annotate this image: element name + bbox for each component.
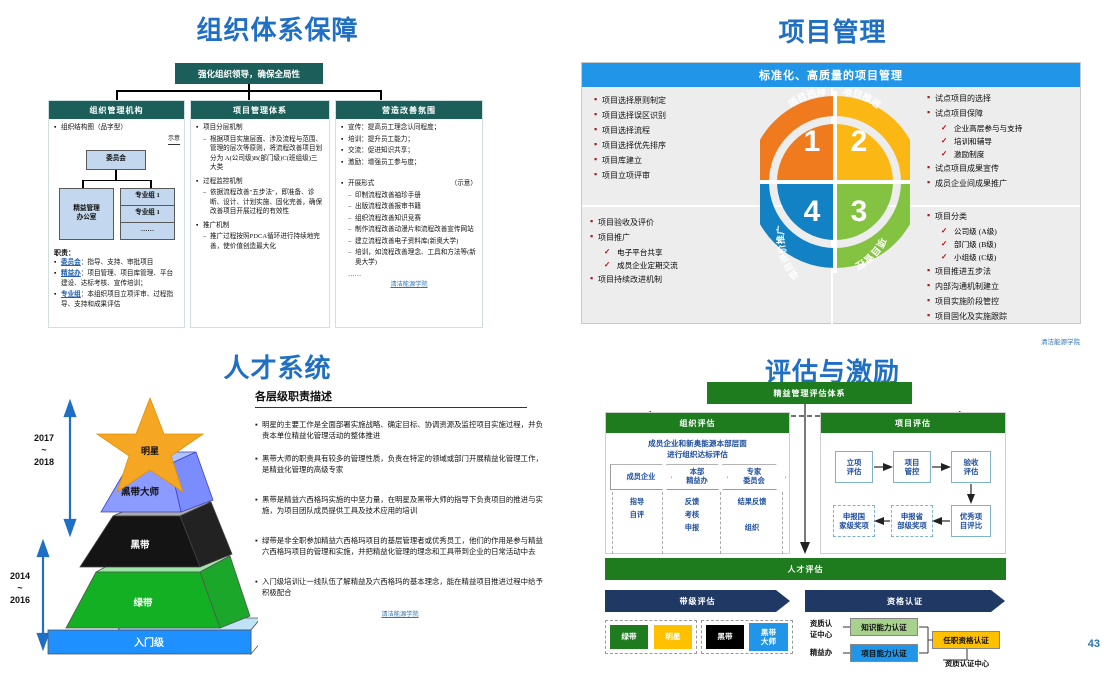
cell-hq: 反馈 考核 申报 bbox=[664, 496, 720, 535]
bullet-dot: ▪ bbox=[341, 123, 348, 133]
pm-lt-1: 项目选择误区识别 bbox=[602, 110, 666, 121]
pm-lt-4: 项目库建立 bbox=[602, 155, 642, 166]
bullet-dot: ▪ bbox=[255, 535, 262, 558]
svg-text:黑带: 黑带 bbox=[130, 539, 150, 551]
pm-rb-1: 项目推进五步法 bbox=[935, 266, 991, 277]
pm-lb-0: 项目验收及评价 bbox=[598, 217, 654, 228]
page-title-organization: 组织体系保障 bbox=[0, 10, 555, 47]
year-lower-from: 2014 bbox=[0, 570, 48, 582]
evaluation-section: 评估与激励 精益管理评估体系 组织评估 成员企业和新奥能源本部层面 进行组织达标… bbox=[555, 340, 1110, 680]
atm-form-5: 培训，如流程改善理念、工具和方法等(新奥大学) bbox=[355, 248, 477, 267]
bullet-dot: ▪ bbox=[594, 125, 602, 134]
resp-item-2: 黑带是精益六西格玛实施的中坚力量，在明星及黑带大师的指导下负责项目的推进与实施，… bbox=[262, 494, 545, 517]
belt-star: 明星 bbox=[654, 625, 692, 649]
dash-mark: – bbox=[348, 214, 355, 224]
bullet-dot: ▪ bbox=[927, 211, 935, 220]
org-evaluation-box: 组织评估 成员企业和新奥能源本部层面 进行组织达标评估 成员企业 本部 精益办 … bbox=[605, 412, 790, 554]
pm-rb-2: 内部沟通机制建立 bbox=[935, 281, 999, 292]
atm-form-2: 组织流程改善知识竞赛 bbox=[355, 214, 477, 224]
cell-member: 指导 自评 bbox=[612, 496, 662, 522]
bullet-dot: ▪ bbox=[594, 170, 602, 179]
year-upper-from: 2017 bbox=[16, 432, 72, 444]
pm-promo-title: 推广机制 bbox=[203, 221, 324, 231]
check-icon: ✓ bbox=[941, 239, 954, 250]
connector-drop-left bbox=[116, 90, 118, 100]
check-icon: ✓ bbox=[604, 247, 617, 258]
org-column-a-header: 组织管理机构 bbox=[49, 101, 184, 119]
atm-item-3: 激励：增强员工参与度； bbox=[348, 158, 477, 168]
project-evaluation-box: 项目评估 立项 评估 项目 管控 验收 评估 申报国 家级奖项 申报省 部级奖项… bbox=[820, 412, 1006, 554]
org-mini-chart: 委员会 精益管理 办公室 专业组 1 专业组 1 …… bbox=[54, 135, 179, 247]
dash-mark: – bbox=[348, 191, 355, 201]
pm-monitor-desc: 依据流程改善"五步法"，即准备、诊断、设计、计划实施、固化完善，确保改善项目开展… bbox=[210, 188, 324, 217]
check-icon: ✓ bbox=[941, 226, 954, 237]
svg-text:入门级: 入门级 bbox=[134, 636, 165, 649]
dash-mark: – bbox=[203, 232, 210, 251]
bullet-dot: ▪ bbox=[341, 146, 348, 156]
check-icon: ✓ bbox=[941, 123, 954, 134]
year-upper-sep: ~ bbox=[16, 444, 72, 456]
atm-form-3: 制作流程改善动漫片和流程改善宣传网站 bbox=[355, 225, 477, 235]
bullet-dot: ▪ bbox=[255, 494, 262, 517]
pm-list-left-bottom: ▪项目验收及评价 ▪项目推广 ✓电子平台共享 ✓成员企业定期交流 ▪项目持续改进… bbox=[590, 217, 770, 289]
year-lower-sep: ~ bbox=[0, 582, 48, 594]
cell-divider-1 bbox=[662, 492, 663, 554]
svg-text:黑带大师: 黑带大师 bbox=[121, 486, 160, 498]
bullet-dot: ▪ bbox=[196, 123, 203, 133]
duty-label-group: 专业组 bbox=[61, 291, 81, 298]
check-icon: ✓ bbox=[941, 136, 954, 147]
bullet-dot: ▪ bbox=[255, 576, 262, 599]
atm-ellipsis: …… bbox=[348, 270, 477, 280]
atm-form-0: 印制流程改善袖珍手册 bbox=[355, 191, 477, 201]
atm-form-1: 出版流程改善报审书籍 bbox=[355, 202, 477, 212]
pm-layer-desc: 根据项目实施层面、涉及流程与范围、管理的层次等原则，将流程改善项目划分为 A(公… bbox=[210, 135, 324, 173]
cert-connectors bbox=[795, 616, 1010, 671]
bullet-dot: ▪ bbox=[927, 266, 935, 275]
quadrant-number-3: 3 bbox=[851, 195, 868, 228]
cell-divider-3 bbox=[782, 492, 783, 554]
pm-rb-3: 项目实施阶段管控 bbox=[935, 296, 999, 307]
talent-credit: 清洁能源学院 bbox=[255, 609, 545, 618]
lean-office-box: 精益管理 办公室 bbox=[59, 188, 114, 240]
pm-lt-5: 项目立项评审 bbox=[602, 170, 650, 181]
bullet-dot: ▪ bbox=[594, 140, 602, 149]
pm-lt-2: 项目选择流程 bbox=[602, 125, 650, 136]
atm-item-1: 培训：提升员工能力； bbox=[348, 135, 477, 145]
bullet-dot: ▪ bbox=[54, 258, 61, 268]
pm-promo-desc: 推广过程按照PDCA循环进行持续地完善，使价值创造最大化 bbox=[210, 232, 324, 251]
bullet-dot: ▪ bbox=[927, 311, 935, 320]
page-number: 43 bbox=[1088, 638, 1100, 650]
page-title-talent: 人才系统 bbox=[0, 348, 555, 385]
belt-black: 黑带 bbox=[706, 625, 744, 649]
chart-line-v3 bbox=[150, 180, 152, 188]
chevron-expert: 专家 委员会 bbox=[722, 464, 786, 490]
chart-line-v2 bbox=[82, 180, 84, 188]
pm-list-left-top: ▪项目选择原则制定 ▪项目选择误区识别 ▪项目选择流程 ▪项目选择优先排序 ▪项… bbox=[594, 95, 769, 185]
bullet-dot: ▪ bbox=[927, 163, 935, 172]
dash-mark: – bbox=[203, 135, 210, 173]
duty-label-office: 精益办 bbox=[61, 270, 81, 277]
chart-line-v1 bbox=[115, 170, 117, 180]
org-eval-subtitle: 成员企业和新奥能源本部层面 进行组织达标评估 bbox=[610, 439, 785, 460]
year-lower-to: 2016 bbox=[0, 594, 48, 606]
bullet-dot: ▪ bbox=[341, 158, 348, 168]
pm-rt-3: 成员企业间成果推广 bbox=[935, 178, 1007, 189]
org-structure-label: 组织结构图（品字型） bbox=[61, 123, 179, 133]
bullet-dot: ▪ bbox=[927, 178, 935, 187]
talent-system-section: 人才系统 入门级 bbox=[0, 340, 555, 680]
bullet-dot: ▪ bbox=[590, 274, 598, 283]
pm-rb-0-chk-2: 小组级 (C级) bbox=[954, 252, 996, 263]
pm-panel: 标准化、高质量的项目管理 ▪项目选择原则制定 ▪项目选择误区识别 ▪项目选择流程… bbox=[581, 62, 1081, 324]
cell-expert: 结果反馈 组织 bbox=[722, 496, 782, 535]
bullet-dot: ▪ bbox=[341, 135, 348, 145]
atm-form-note: （示意） bbox=[451, 179, 477, 189]
dash-mark: – bbox=[348, 225, 355, 235]
chart-line-h bbox=[82, 180, 152, 182]
resp-item-1: 黑带大师的职责具有较多的管理性质，负责在特定的领域或部门开展精益化管理工作，是精… bbox=[262, 453, 545, 476]
pm-rt-1-chk-1: 培训和辅导 bbox=[954, 136, 992, 147]
check-icon: ✓ bbox=[941, 252, 954, 263]
pm-rb-0-chk-1: 部门级 (B级) bbox=[954, 239, 996, 250]
pm-rb-4: 项目固化及实施跟踪 bbox=[935, 311, 1007, 322]
belt-eval-banner: 带级评估 bbox=[605, 590, 790, 612]
pro-group-more-box: …… bbox=[120, 222, 175, 240]
pm-lt-3: 项目选择优先排序 bbox=[602, 140, 666, 151]
dash-mark: – bbox=[203, 188, 210, 217]
bullet-dot: ▪ bbox=[54, 123, 61, 133]
org-credit: 清洁能源学院 bbox=[341, 281, 477, 290]
resp-item-0: 明星的主要工作是全面部署实施战略、确定目标、协调资源及监控项目实施过程，并负责本… bbox=[262, 419, 545, 442]
org-column-b-header: 项目管理体系 bbox=[191, 101, 329, 119]
check-icon: ✓ bbox=[941, 149, 954, 160]
pm-lb-1-chk-1: 成员企业定期交流 bbox=[617, 260, 678, 271]
chevron-member: 成员企业 bbox=[610, 464, 672, 490]
bullet-dot: ▪ bbox=[54, 269, 61, 288]
chevron-hq-office: 本部 精益办 bbox=[666, 464, 728, 490]
pm-monitor-title: 过程监控机制 bbox=[203, 177, 324, 187]
bullet-dot: ▪ bbox=[54, 290, 61, 309]
bullet-dot: ▪ bbox=[196, 221, 203, 231]
responsibility-title: 各层级职责描述 bbox=[255, 388, 527, 408]
pm-rt-1-chk-2: 激励制度 bbox=[954, 149, 984, 160]
org-column-c-header: 营造改善氛围 bbox=[336, 101, 482, 119]
year-range-lower: 2014 ~ 2016 bbox=[0, 570, 48, 606]
svg-text:明星: 明星 bbox=[141, 446, 159, 456]
responsibility-panel: 各层级职责描述 ▪明星的主要工作是全面部署实施战略、确定目标、协调资源及监控项目… bbox=[255, 388, 545, 618]
atm-form-4: 建立流程改善电子资料库(新奥大学) bbox=[355, 237, 477, 247]
year-range-upper: 2017 ~ 2018 bbox=[16, 432, 72, 468]
connector-vertical bbox=[248, 84, 250, 100]
belt-master: 黑带 大师 bbox=[749, 623, 788, 651]
org-eval-header: 组织评估 bbox=[606, 413, 789, 433]
bullet-dot: ▪ bbox=[927, 93, 935, 102]
org-column-structure: 组织管理机构 ▪ 组织结构图（品字型） 示意 委员会 精益管理 办公室 专业组 … bbox=[48, 100, 185, 328]
pm-rt-0: 试点项目的选择 bbox=[935, 93, 991, 104]
pm-rb-0-chk-0: 公司级 (A级) bbox=[954, 226, 997, 237]
resp-item-4: 入门级培训让一线队伍了解精益及六西格玛的基本理念，能在精益项目推进过程中给予积极… bbox=[262, 576, 545, 599]
pro-group-2-box: 专业组 1 bbox=[120, 205, 175, 223]
pm-lb-1: 项目推广 bbox=[598, 232, 630, 243]
check-icon: ✓ bbox=[604, 260, 617, 271]
pm-rb-0: 项目分类 bbox=[935, 211, 967, 222]
org-top-banner: 强化组织领导，确保全局性 bbox=[175, 63, 323, 84]
cell-divider-2 bbox=[720, 492, 721, 554]
project-management-section: 项目管理 标准化、高质量的项目管理 ▪项目选择原则制定 ▪项目选择误区识别 ▪项… bbox=[555, 0, 1110, 350]
connector-drop-right bbox=[380, 90, 382, 100]
pm-circle-diagram: 1 2 3 4 项目选择 项目推进 项目管控 项目评价推广 bbox=[760, 89, 910, 325]
bullet-dot: ▪ bbox=[594, 110, 602, 119]
bullet-dot: ▪ bbox=[255, 453, 262, 476]
bullet-dot: ▪ bbox=[590, 217, 598, 226]
bullet-dot: ▪ bbox=[594, 155, 602, 164]
pm-lb-1-chk-0: 电子平台共享 bbox=[617, 247, 663, 258]
quadrant-number-2: 2 bbox=[851, 125, 868, 158]
pm-lt-0: 项目选择原则制定 bbox=[602, 95, 666, 106]
pm-list-right-bottom: ▪项目分类 ✓公司级 (A级) ✓部门级 (B级) ✓小组级 (C级) ▪项目推… bbox=[927, 211, 1089, 326]
bullet-dot: ▪ bbox=[255, 419, 262, 442]
pm-panel-header: 标准化、高质量的项目管理 bbox=[582, 63, 1080, 87]
pm-lb-2: 项目持续改进机制 bbox=[598, 274, 662, 285]
resp-item-3: 绿带是非全职参加精益六西格玛项目的基层管理者或优秀员工，他们的作用是参与精益六西… bbox=[262, 535, 545, 558]
pm-rt-2: 试点项目成果宣传 bbox=[935, 163, 999, 174]
atm-form-title: 开展形式 bbox=[348, 179, 374, 189]
svg-text:绿带: 绿带 bbox=[133, 597, 153, 609]
proj-flow-arrows bbox=[821, 433, 1007, 553]
bullet-dot: ▪ bbox=[927, 108, 935, 117]
atm-item-2: 交流：促进知识共享； bbox=[348, 146, 477, 156]
pm-list-right-top: ▪试点项目的选择 ▪试点项目保障 ✓企业高层参与与支持 ✓培训和辅导 ✓激励制度… bbox=[927, 93, 1087, 193]
belt-green: 绿带 bbox=[610, 625, 648, 649]
bullet-dot: ▪ bbox=[927, 281, 935, 290]
talent-eval-banner: 人才评估 bbox=[605, 558, 1006, 580]
bullet-dot: ▪ bbox=[341, 179, 348, 189]
quadrant-number-4: 4 bbox=[804, 195, 821, 228]
duty-label-committee: 委员会 bbox=[61, 259, 81, 266]
org-column-project-system: 项目管理体系 ▪ 项目分层机制 – 根据项目实施层面、涉及流程与范围、管理的层次… bbox=[190, 100, 330, 328]
connector-horizontal bbox=[116, 90, 381, 92]
pm-layer-title: 项目分层机制 bbox=[203, 123, 324, 133]
pm-panel-body: ▪项目选择原则制定 ▪项目选择误区识别 ▪项目选择流程 ▪项目选择优先排序 ▪项… bbox=[582, 87, 1080, 325]
bullet-dot: ▪ bbox=[927, 296, 935, 305]
proj-eval-header: 项目评估 bbox=[821, 413, 1005, 433]
bullet-dot: ▪ bbox=[196, 177, 203, 187]
org-column-atmosphere: 营造改善氛围 ▪宣传：提高员工理念认同程度； ▪培训：提升员工能力； ▪交流：促… bbox=[335, 100, 483, 328]
bullet-dot: ▪ bbox=[594, 95, 602, 104]
atm-item-0: 宣传：提高员工理念认同程度； bbox=[348, 123, 477, 133]
committee-box: 委员会 bbox=[86, 150, 146, 170]
pm-rt-1: 试点项目保障 bbox=[935, 108, 983, 119]
dash-mark: – bbox=[348, 237, 355, 247]
talent-pyramid: 入门级 绿带 黑带 黑带大师 bbox=[18, 392, 258, 662]
pm-rt-1-chk-0: 企业高层参与与支持 bbox=[954, 123, 1022, 134]
page-title-project-management: 项目管理 bbox=[555, 12, 1110, 49]
quadrant-number-1: 1 bbox=[804, 125, 821, 158]
year-upper-to: 2018 bbox=[16, 456, 72, 468]
organization-section: 组织体系保障 强化组织领导，确保全局性 组织管理机构 ▪ 组织结构图（品字型） … bbox=[0, 0, 555, 340]
duty-text-committee: ：指导、支持、审批项目 bbox=[81, 259, 154, 266]
org-eval-chevrons: 成员企业 本部 精益办 专家 委员会 bbox=[610, 464, 785, 490]
bullet-dot: ▪ bbox=[590, 232, 598, 241]
duty-title: 职责： bbox=[54, 248, 179, 258]
dash-mark: – bbox=[348, 202, 355, 212]
pro-group-1-box: 专业组 1 bbox=[120, 188, 175, 206]
dash-mark: – bbox=[348, 248, 355, 267]
cert-banner: 资格认证 bbox=[805, 590, 1005, 612]
